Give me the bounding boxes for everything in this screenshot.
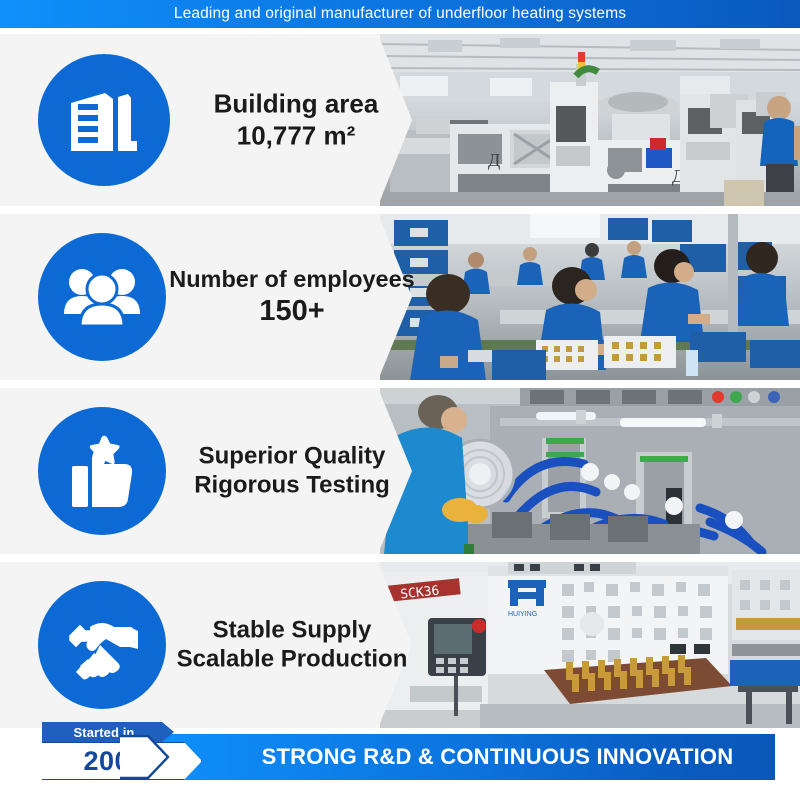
feature-row: Д: [0, 34, 800, 206]
infographic-page: Leading and original manufacturer of und…: [0, 0, 800, 800]
row-text: Superior Quality Rigorous Testing: [172, 442, 412, 501]
banner-headline: STRONG R&D & CONTINUOUS INNOVATION: [220, 734, 775, 780]
row-line2: Scalable Production: [168, 645, 416, 674]
badge-arrow-icon: [118, 734, 170, 780]
row-line1: Number of employees: [164, 265, 420, 294]
row-line1: Superior Quality: [172, 442, 412, 471]
row-photo: [380, 214, 800, 380]
thumbs-up-star-icon: [38, 407, 166, 535]
row-photo: Д: [380, 34, 800, 206]
people-group-icon: [38, 233, 166, 361]
row-line2: 150+: [164, 294, 420, 329]
row-line1: Building area: [176, 88, 416, 120]
header-tagline: Leading and original manufacturer of und…: [174, 5, 626, 23]
row-photo: [380, 388, 800, 554]
feature-row: SCK36: [0, 562, 800, 728]
row-text: Number of employees 150+: [164, 265, 420, 329]
handshake-icon: [38, 581, 166, 709]
row-line2: Rigorous Testing: [172, 471, 412, 500]
row-line1: Stable Supply: [168, 616, 416, 645]
svg-text:HUIYING: HUIYING: [508, 611, 537, 618]
svg-text:Д: Д: [488, 150, 500, 170]
bottom-banner: STRONG R&D & CONTINUOUS INNOVATION Start…: [0, 722, 800, 780]
feature-row: Superior Quality Rigorous Testing: [0, 388, 800, 554]
building-icon: [38, 54, 170, 186]
row-text: Building area 10,777 m²: [176, 88, 416, 151]
feature-rows: Д: [0, 34, 800, 736]
row-text: Stable Supply Scalable Production: [168, 616, 416, 675]
row-line2: 10,777 m²: [176, 120, 416, 152]
row-photo: SCK36: [380, 562, 800, 728]
feature-row: Number of employees 150+: [0, 214, 800, 380]
header-bar: Leading and original manufacturer of und…: [0, 0, 800, 28]
